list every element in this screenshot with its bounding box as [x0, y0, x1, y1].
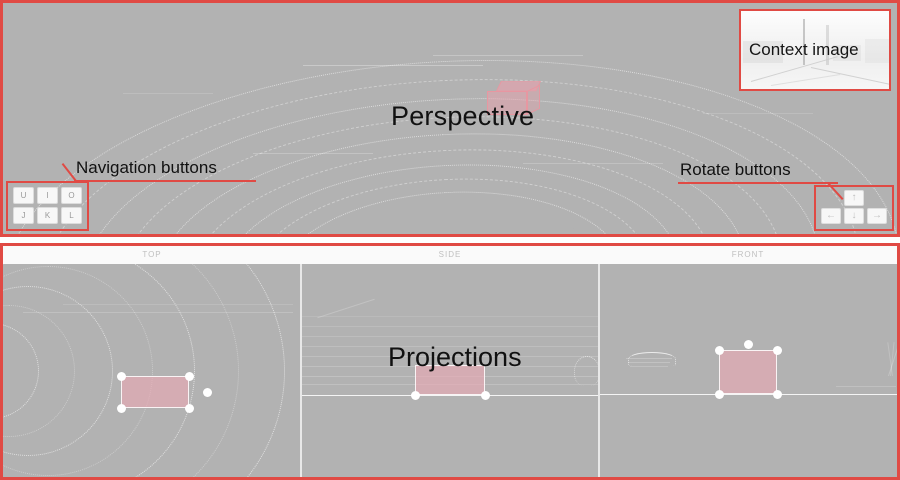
arrow-left-icon[interactable]: ←: [821, 208, 841, 224]
nav-key-l[interactable]: L: [61, 207, 82, 224]
scan-streak: [302, 316, 601, 317]
navigation-callout-label: Navigation buttons: [76, 158, 217, 178]
bbox-handle-heading[interactable]: [203, 388, 212, 397]
navigation-callout-underline: [74, 180, 256, 182]
nav-key-k[interactable]: K: [37, 207, 58, 224]
perspective-panel[interactable]: Perspective Context image U I O: [0, 0, 900, 237]
bbox-handle-tr[interactable]: [185, 372, 194, 381]
bbox-handle-tl[interactable]: [117, 372, 126, 381]
rotate-buttons-group[interactable]: ↑ ← ↓ →: [814, 185, 894, 231]
projection-headers: TOP SIDE FRONT: [3, 246, 897, 264]
scan-streak: [303, 65, 483, 66]
rotate-callout-label: Rotate buttons: [680, 160, 791, 180]
scan-streak: [302, 326, 601, 327]
context-image-panel[interactable]: Context image: [739, 9, 891, 91]
projection-front-label: FRONT: [599, 246, 897, 264]
scan-streak: [23, 312, 293, 313]
arrow-down-icon[interactable]: ↓: [844, 208, 864, 224]
projection-front[interactable]: [600, 264, 897, 477]
projection-top[interactable]: [3, 264, 302, 477]
bbox-projection-top[interactable]: [121, 376, 189, 408]
perspective-label: Perspective: [391, 101, 534, 132]
scan-streak: [433, 55, 583, 56]
navigation-button-row: J K L: [13, 207, 82, 224]
bbox-projection-front[interactable]: [719, 350, 777, 394]
rotate-button-row-bottom: ← ↓ →: [821, 208, 887, 224]
bbox-handle-br[interactable]: [773, 390, 782, 399]
navigation-button-row: U I O: [13, 187, 82, 204]
bbox-handle-br[interactable]: [481, 391, 490, 400]
annotation-tool-app: Perspective Context image U I O: [0, 0, 900, 480]
projection-side-label: SIDE: [301, 246, 599, 264]
scan-streak: [628, 362, 670, 363]
bbox-handle-bl[interactable]: [117, 404, 126, 413]
scan-streak: [63, 304, 293, 305]
point-cluster: [628, 352, 676, 366]
ground-plane-line: [600, 394, 897, 395]
ground-plane-line: [302, 395, 601, 396]
projection-top-label: TOP: [3, 246, 301, 264]
bbox-handle-br[interactable]: [185, 404, 194, 413]
scan-streak: [123, 93, 213, 94]
bbox-handle-tr[interactable]: [773, 346, 782, 355]
scan-streak: [253, 153, 373, 154]
scan-streak: [703, 113, 813, 114]
rotate-button-row-top: ↑: [821, 190, 887, 206]
bbox-handle-top-center[interactable]: [744, 340, 753, 349]
scan-streak: [523, 163, 663, 164]
bbox-handle-bl[interactable]: [715, 390, 724, 399]
nav-key-j[interactable]: J: [13, 207, 34, 224]
navigation-buttons-group[interactable]: U I O J K L: [6, 181, 89, 231]
nav-key-u[interactable]: U: [13, 187, 34, 204]
lidar-arc: [3, 264, 302, 477]
scan-streak: [630, 366, 668, 367]
projections-label: Projections: [388, 342, 522, 373]
arrow-up-icon[interactable]: ↑: [844, 190, 864, 206]
arrow-right-icon[interactable]: →: [867, 208, 887, 224]
context-image-label: Context image: [749, 40, 859, 60]
nav-key-o[interactable]: O: [61, 187, 82, 204]
rotate-callout-underline: [678, 182, 838, 184]
nav-key-i[interactable]: I: [37, 187, 58, 204]
scan-streak: [302, 336, 601, 337]
tree-point-cluster: [574, 356, 600, 386]
bbox-handle-bl[interactable]: [411, 391, 420, 400]
scan-streak: [626, 358, 672, 359]
scan-streak: [836, 386, 896, 387]
